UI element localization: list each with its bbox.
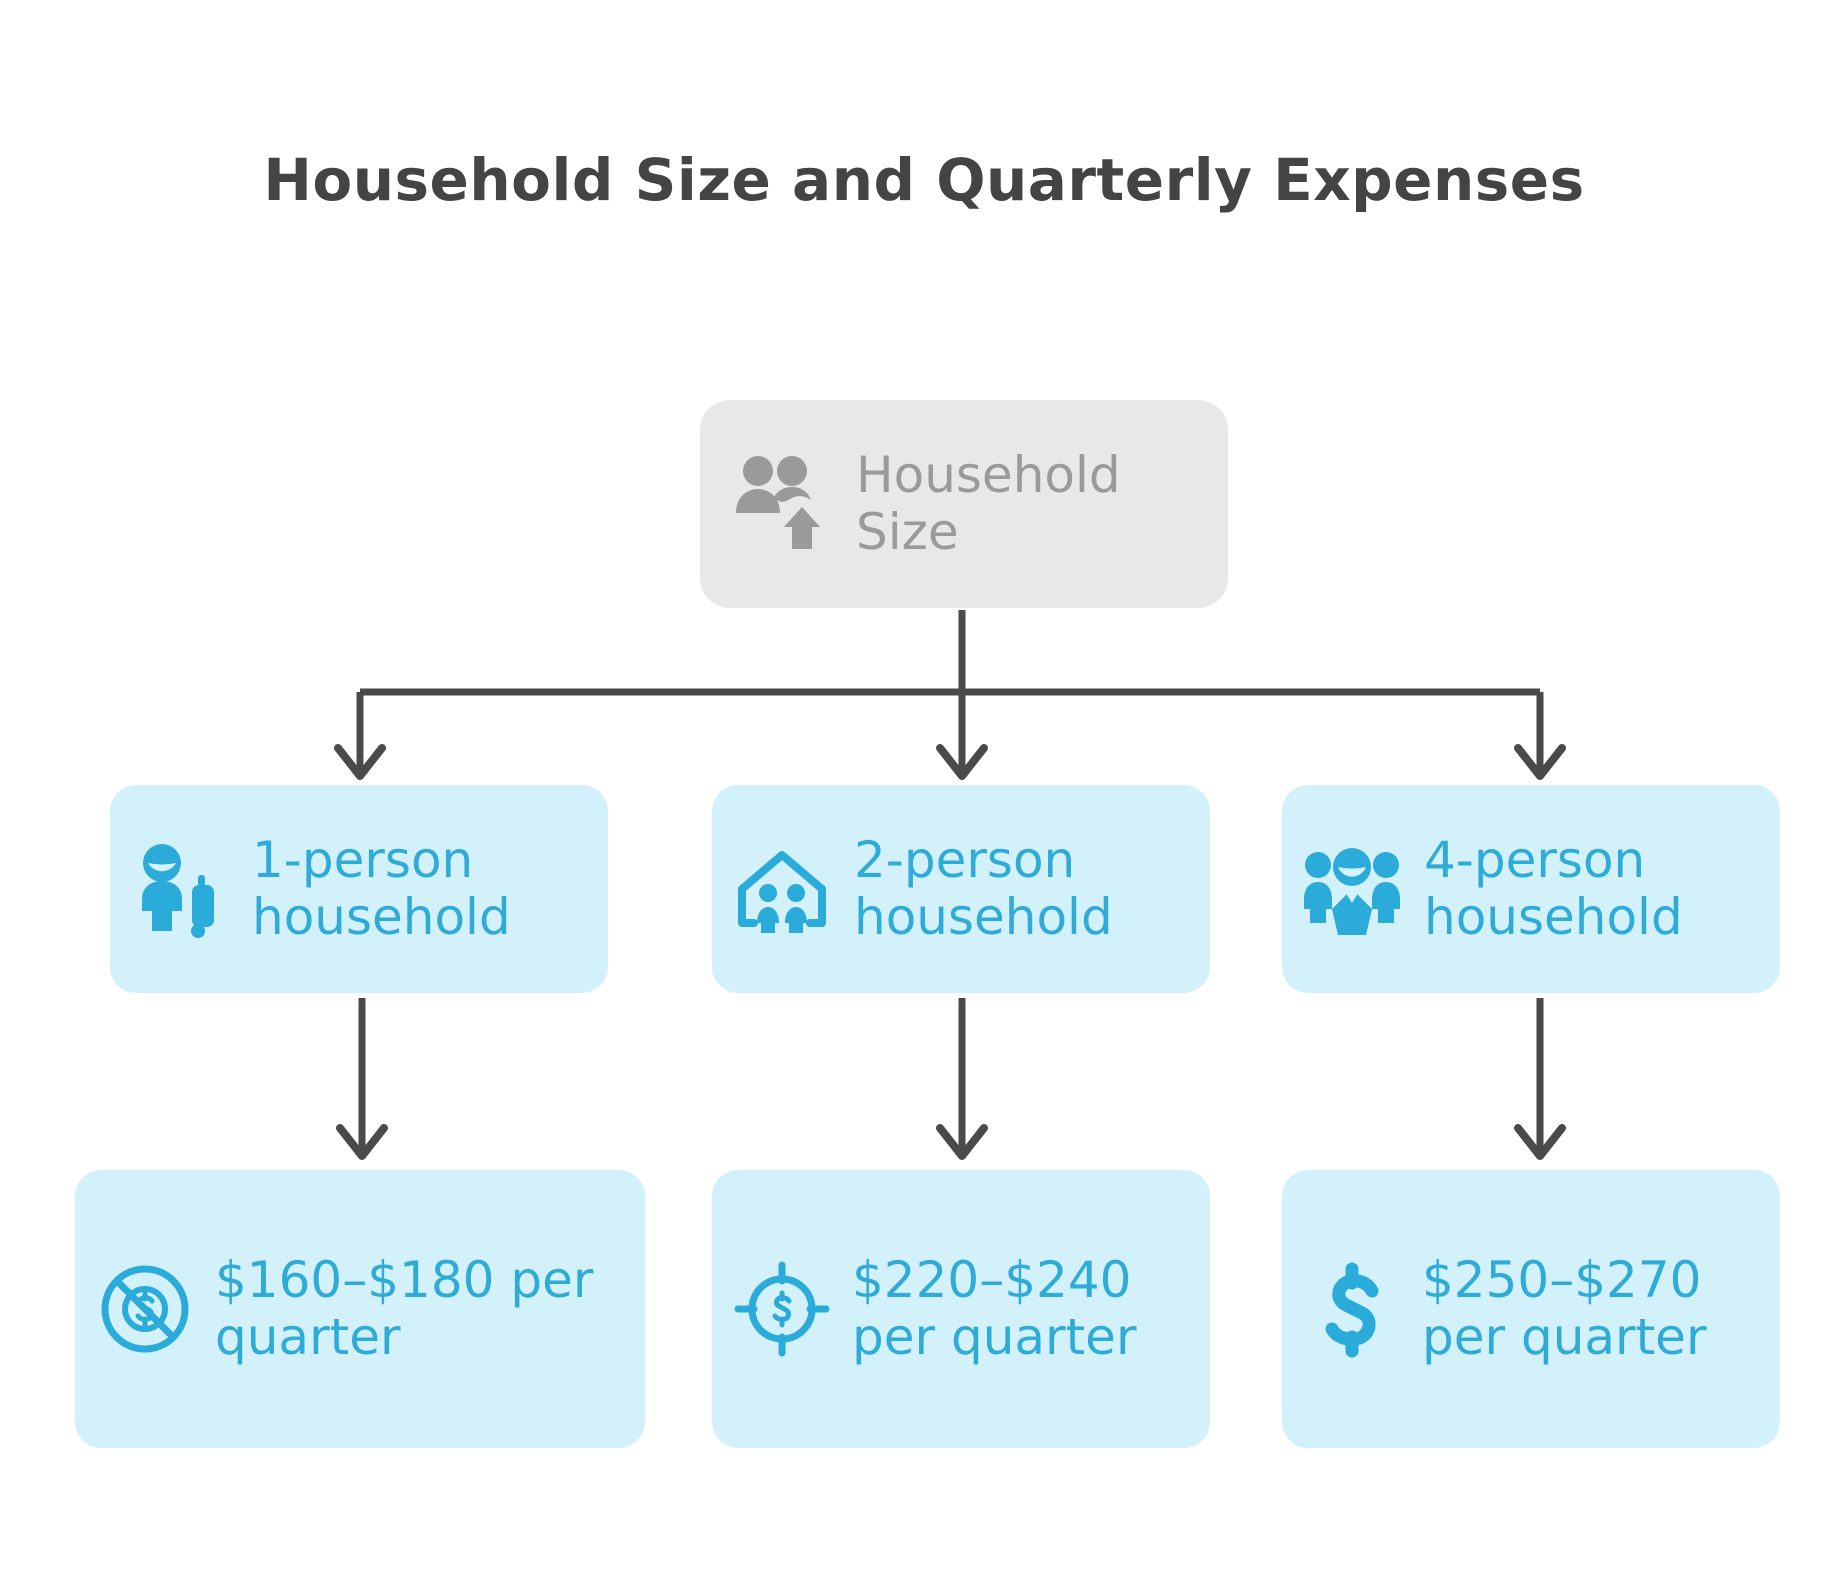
arrowhead-branch-1 [338, 748, 382, 776]
dollar-circle-slash-icon [93, 1257, 197, 1361]
category-node-label: 2-person household [854, 832, 1192, 946]
category-node-1-person[interactable]: 1-person household [110, 785, 608, 993]
arrowhead-leaf-2 [940, 1128, 984, 1156]
category-node-label: 1-person household [252, 832, 590, 946]
category-node-label: 4-person household [1424, 832, 1762, 946]
category-node-4-person[interactable]: 4-person household [1282, 785, 1780, 993]
diagram-canvas: Household Size and Quarterly Expenses [0, 0, 1848, 1596]
root-node-label: Household Size [856, 447, 1210, 561]
expense-node-label: $220–$240 per quarter [852, 1252, 1192, 1366]
root-node-household-size[interactable]: Household Size [700, 400, 1228, 608]
arrowhead-branch-2 [940, 748, 984, 776]
arrowhead-leaf-3 [1518, 1128, 1562, 1156]
expense-node-2-person[interactable]: $220–$240 per quarter [712, 1170, 1210, 1448]
expense-node-1-person[interactable]: $160–$180 per quarter [75, 1170, 645, 1448]
people-house-icon [734, 449, 830, 559]
page-title: Household Size and Quarterly Expenses [0, 146, 1848, 214]
category-node-2-person[interactable]: 2-person household [712, 785, 1210, 993]
dollar-target-icon [730, 1257, 834, 1361]
expense-node-label: $160–$180 per quarter [215, 1252, 627, 1366]
expense-node-4-person[interactable]: $250–$270 per quarter [1282, 1170, 1780, 1448]
house-with-two-people-icon [730, 837, 834, 941]
group-of-people-icon [1300, 837, 1404, 941]
dollar-sign-icon [1300, 1257, 1404, 1361]
person-with-luggage-icon [128, 837, 232, 941]
expense-node-label: $250–$270 per quarter [1422, 1252, 1762, 1366]
arrowhead-branch-3 [1518, 748, 1562, 776]
arrowhead-leaf-1 [340, 1128, 384, 1156]
